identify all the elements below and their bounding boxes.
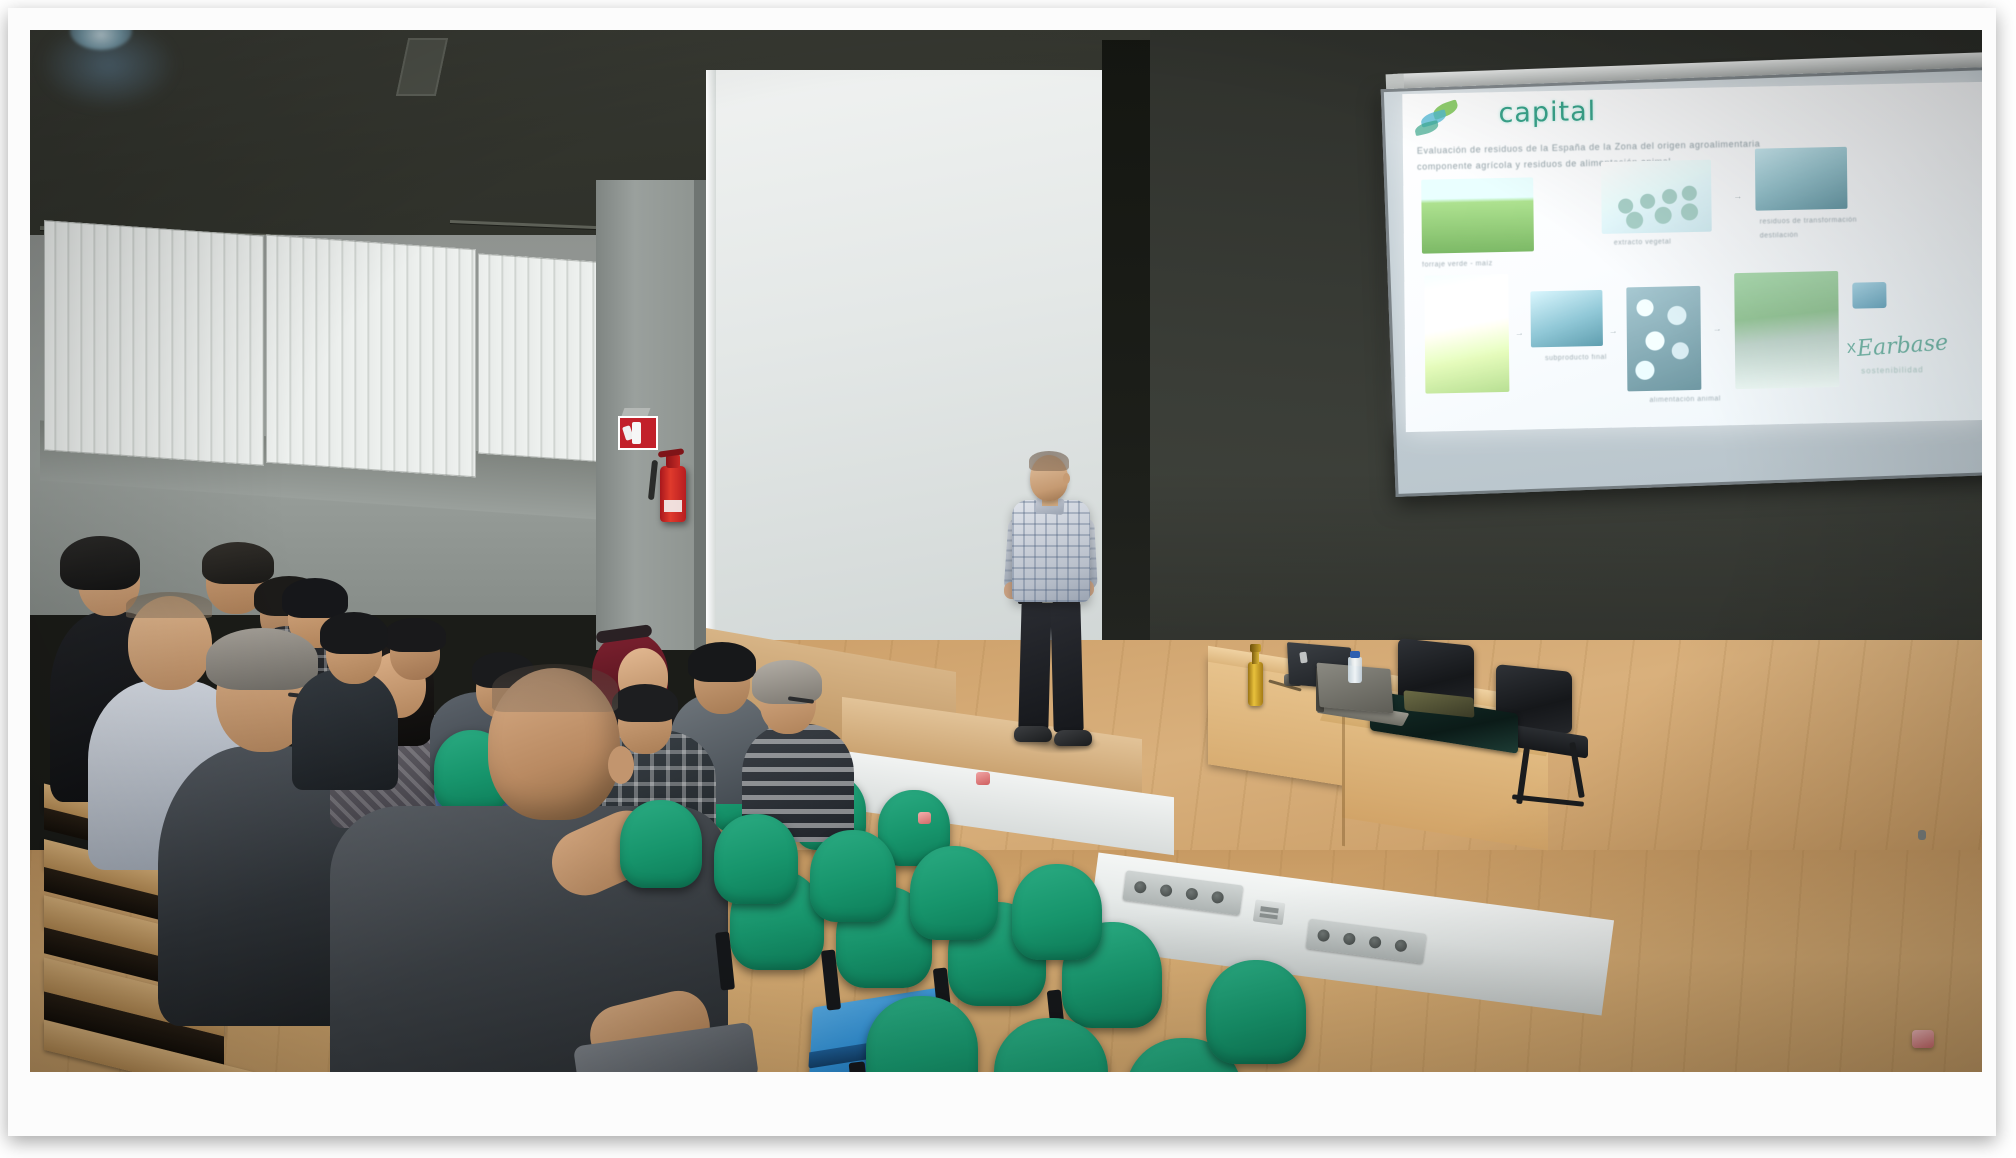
fire-extinguisher-icon xyxy=(660,466,686,522)
slide-caption: forraje verde - maíz xyxy=(1422,260,1493,268)
auditorium-seat[interactable] xyxy=(810,830,896,922)
power-socket[interactable] xyxy=(1343,932,1356,945)
slide-caption: alimentación animal xyxy=(1649,395,1720,403)
slide-image-petri-dishes xyxy=(1601,160,1712,234)
usb-slot[interactable] xyxy=(1260,906,1278,913)
power-socket[interactable] xyxy=(1159,884,1172,897)
extinguisher-label xyxy=(664,500,682,512)
presenter-leg xyxy=(1050,600,1083,733)
water-bottle[interactable] xyxy=(1348,657,1362,683)
slide-caption: subproducto final xyxy=(1545,354,1607,362)
audience-hair xyxy=(60,536,140,590)
stage-wall-edge xyxy=(706,70,716,690)
column xyxy=(596,180,706,650)
water-bottle-cap xyxy=(1350,651,1360,658)
presentation-slide: capital Evaluación de residuos de la Esp… xyxy=(1402,82,1982,432)
audience-hair xyxy=(612,684,678,722)
slide-caption: destilación xyxy=(1760,232,1799,240)
power-outlet-plate[interactable] xyxy=(1122,870,1243,915)
slide-image-blue-icon xyxy=(1852,282,1886,309)
power-socket[interactable] xyxy=(1394,939,1407,952)
leaf-logo-icon xyxy=(1414,103,1470,138)
auditorium-seat[interactable] xyxy=(620,800,702,888)
auditorium-seat[interactable] xyxy=(910,846,998,940)
oil-bottle-neck xyxy=(1252,650,1259,664)
auditorium-seat[interactable] xyxy=(714,814,798,904)
cup xyxy=(976,772,990,785)
acoustic-panel xyxy=(266,235,476,478)
audience-hair xyxy=(492,664,618,712)
power-socket[interactable] xyxy=(1368,936,1381,949)
cup xyxy=(918,812,931,824)
audience-hair xyxy=(126,592,212,618)
audience-hair xyxy=(752,660,822,704)
slide-image-equipment xyxy=(1530,290,1603,348)
slide-caption: residuos de transformación xyxy=(1760,217,1857,226)
presenter-shirt xyxy=(1012,500,1090,602)
acoustic-panel xyxy=(478,253,608,462)
power-socket[interactable] xyxy=(1134,880,1147,893)
power-socket[interactable] xyxy=(1211,891,1224,904)
slide-image-pellets xyxy=(1626,286,1701,392)
floor-cup xyxy=(1912,1030,1934,1048)
presenter-ear xyxy=(1063,473,1070,484)
brand-tick-icon: x xyxy=(1846,336,1856,358)
auditorium-seat[interactable] xyxy=(866,996,978,1072)
slide-arrow-icon: → xyxy=(1713,323,1722,333)
slide-image-flowering-plant xyxy=(1424,274,1509,394)
lecture-hall-photo: capital Evaluación de residuos de la Esp… xyxy=(30,30,1982,1072)
photo-mat: capital Evaluación de residuos de la Esp… xyxy=(8,8,1996,1136)
power-outlet-plate[interactable] xyxy=(1306,919,1427,964)
usb-outlet-plate[interactable] xyxy=(1253,899,1286,925)
olive-oil-bottle[interactable] xyxy=(1248,662,1263,706)
sign-bracket xyxy=(622,408,651,416)
slide-image-crop-field xyxy=(1421,177,1534,253)
slide-title: capital xyxy=(1498,96,1596,129)
audience-hair xyxy=(206,628,318,690)
fire-sign-glyph xyxy=(632,422,641,444)
audience-ear xyxy=(608,746,634,784)
desk-seam xyxy=(1342,696,1345,846)
auditorium-seat[interactable] xyxy=(994,1018,1108,1072)
audience-hair xyxy=(688,642,756,682)
slide-body-line: Evaluación de residuos de la España de l… xyxy=(1417,139,1761,156)
stand-foot xyxy=(1918,830,1926,840)
audience-hair xyxy=(202,542,274,584)
presenter-shoe xyxy=(1054,730,1092,746)
slide-brand-sub: sostenibilidad xyxy=(1861,365,1924,375)
slide-arrow-icon: → xyxy=(1609,326,1618,336)
laptop-logo-icon xyxy=(1299,652,1307,664)
usb-slot[interactable] xyxy=(1259,913,1277,919)
slide-caption: extracto vegetal xyxy=(1614,238,1671,246)
power-socket[interactable] xyxy=(1317,929,1330,942)
audience-hair xyxy=(320,612,388,654)
presenter-leg xyxy=(1018,600,1051,731)
presenter-hair xyxy=(1029,451,1069,471)
slide-arrow-icon: → xyxy=(1733,191,1742,201)
photo-frame: capital Evaluación de residuos de la Esp… xyxy=(0,0,2016,1158)
audience-torso xyxy=(292,670,398,790)
audience-hair xyxy=(384,618,446,652)
slide-image-cattle-pasture xyxy=(1734,271,1839,389)
slide-brand: Earbase xyxy=(1856,330,1949,362)
auditorium-seat[interactable] xyxy=(1206,960,1306,1064)
slide-arrow-icon: → xyxy=(1515,328,1524,338)
slide-image-harvester xyxy=(1755,147,1848,211)
presenter-shoe xyxy=(1014,726,1052,742)
audience-hair xyxy=(282,578,348,618)
acoustic-panel xyxy=(44,220,264,465)
power-socket[interactable] xyxy=(1185,887,1198,900)
auditorium-seat[interactable] xyxy=(1012,864,1102,960)
oil-bottle-cap xyxy=(1250,644,1261,652)
